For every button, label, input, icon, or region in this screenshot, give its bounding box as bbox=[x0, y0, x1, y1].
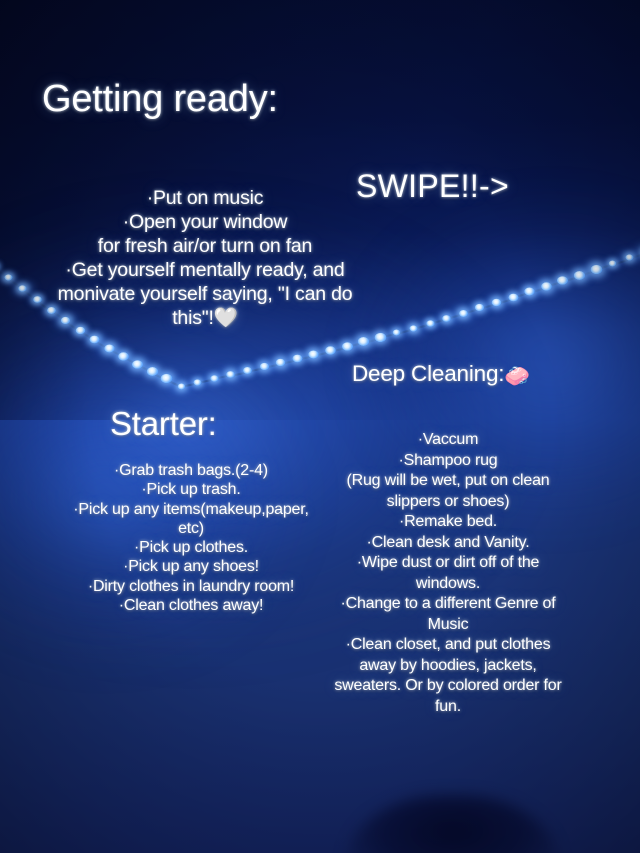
getting-ready-line: ·Get yourself mentally ready, and bbox=[30, 258, 380, 282]
deep-cleaning-list: ·Vaccum·Shampoo rug(Rug will be wet, put… bbox=[300, 430, 596, 717]
deep-cleaning-line: ·Wipe dust or dirt off of the bbox=[300, 553, 596, 574]
deep-cleaning-line: ·Remake bed. bbox=[300, 512, 596, 533]
starter-line: ·Clean clothes away! bbox=[46, 596, 336, 615]
deep-cleaning-line: slippers or shoes) bbox=[300, 492, 596, 513]
deep-cleaning-line: Music bbox=[300, 615, 596, 636]
starter-line: ·Grab trash bags.(2-4) bbox=[46, 461, 336, 480]
starter-line: ·Pick up any shoes! bbox=[46, 557, 336, 576]
deep-cleaning-line: windows. bbox=[300, 574, 596, 595]
heading-starter: Starter: bbox=[110, 405, 217, 443]
getting-ready-line: monivate yourself saying, "I can do bbox=[30, 282, 380, 306]
starter-line: ·Pick up any items(makeup,paper, bbox=[46, 500, 336, 519]
deep-cleaning-line: away by hoodies, jackets, bbox=[300, 656, 596, 677]
getting-ready-list: ·Put on music·Open your windowfor fresh … bbox=[30, 186, 380, 330]
starter-line: ·Dirty clothes in laundry room! bbox=[46, 577, 336, 596]
deep-cleaning-line: (Rug will be wet, put on clean bbox=[300, 471, 596, 492]
starter-line: ·Pick up clothes. bbox=[46, 538, 336, 557]
getting-ready-line: ·Open your window bbox=[30, 210, 380, 234]
starter-list: ·Grab trash bags.(2-4)·Pick up trash.·Pi… bbox=[46, 461, 336, 615]
starter-line: ·Pick up trash. bbox=[46, 480, 336, 499]
deep-cleaning-line: ·Vaccum bbox=[300, 430, 596, 451]
soap-icon: 🧼 bbox=[504, 365, 530, 388]
getting-ready-line: ·Put on music bbox=[30, 186, 380, 210]
heading-deep-cleaning-label: Deep Cleaning: bbox=[352, 361, 504, 386]
deep-cleaning-line: ·Change to a different Genre of bbox=[300, 594, 596, 615]
deep-cleaning-line: fun. bbox=[300, 697, 596, 718]
heading-deep-cleaning: Deep Cleaning:🧼 bbox=[352, 361, 530, 389]
starter-line: etc) bbox=[46, 519, 336, 538]
heading-getting-ready: Getting ready: bbox=[42, 78, 278, 121]
deep-cleaning-line: sweaters. Or by colored order for bbox=[300, 676, 596, 697]
getting-ready-line: for fresh air/or turn on fan bbox=[30, 234, 380, 258]
screenshot-root: Getting ready: SWIPE!!-> ·Put on music·O… bbox=[0, 0, 640, 853]
getting-ready-line: this"!🤍 bbox=[30, 306, 380, 330]
deep-cleaning-line: ·Shampoo rug bbox=[300, 451, 596, 472]
deep-cleaning-line: ·Clean desk and Vanity. bbox=[300, 533, 596, 554]
deep-cleaning-line: ·Clean closet, and put clothes bbox=[300, 635, 596, 656]
